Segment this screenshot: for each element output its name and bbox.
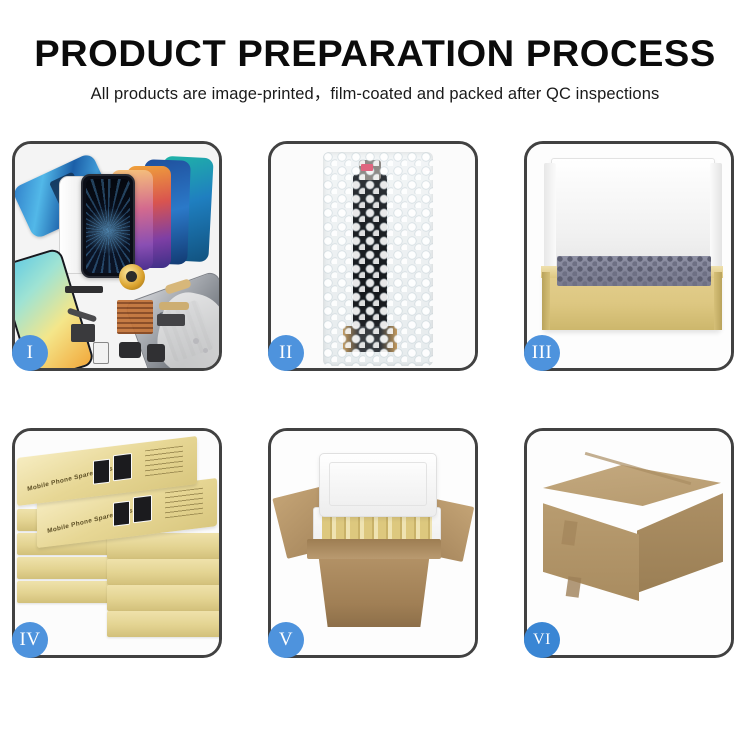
process-steps-grid: I II III (12, 141, 738, 711)
header: PRODUCT PREPARATION PROCESS All products… (0, 0, 750, 104)
spare-parts-group (73, 272, 219, 368)
flex-cable-part-b (71, 324, 95, 342)
product-preparation-page: PRODUCT PREPARATION PROCESS All products… (0, 0, 750, 750)
tray-side-left (542, 272, 550, 330)
step-image-i (15, 144, 219, 368)
screw-part-1 (193, 338, 199, 344)
carton-front-face (543, 497, 639, 601)
carton-side-face (637, 489, 723, 593)
flex-cable-part-d (159, 302, 189, 310)
stacked-box-edge-4 (17, 581, 113, 603)
carton-flap-front (307, 539, 441, 559)
step-image-vi (527, 431, 731, 655)
phone-front-black (81, 174, 135, 278)
step-badge-iii: III (524, 335, 560, 371)
gold-box-stack: Mobile Phone Spare Parts Mobile Phone Sp… (15, 445, 219, 645)
step-panel-v: V (268, 428, 478, 658)
styrofoam-lid (319, 453, 437, 517)
chip-part (93, 342, 109, 364)
box-screen-image-2 (113, 453, 132, 481)
camera-module-part (119, 342, 141, 358)
box-spec-lines-1 (145, 446, 183, 477)
step-panel-vi: VI (524, 428, 734, 658)
stacked-box-front-3 (107, 585, 219, 611)
tray-side-right (714, 272, 722, 330)
flex-cable-part-e (157, 314, 185, 326)
step-badge-i: I (12, 335, 48, 371)
step-image-ii (271, 144, 475, 368)
carton-body (313, 551, 435, 627)
pink-label-tag (361, 164, 373, 171)
stacked-box-front-4 (107, 611, 219, 637)
step-image-iii (527, 144, 731, 368)
step-badge-ii: II (268, 335, 304, 371)
box-screen-image-1 (93, 459, 110, 485)
step-panel-iii: III (524, 141, 734, 371)
step-image-v (271, 431, 475, 655)
box-spec-lines-2 (165, 488, 203, 519)
flex-cable-part-c (164, 278, 192, 295)
step-panel-ii: II (268, 141, 478, 371)
step-badge-v: V (268, 622, 304, 658)
step-badge-vi: VI (524, 622, 560, 658)
copper-grid-part (117, 300, 153, 334)
stacked-box-front-2 (107, 559, 219, 585)
screw-part-2 (203, 348, 208, 353)
step-badge-iv: IV (12, 622, 48, 658)
page-subtitle: All products are image-printed，film-coat… (0, 75, 750, 104)
screen-graphic (86, 179, 130, 273)
bubble-texture (323, 152, 433, 366)
step-panel-iv: Mobile Phone Spare Parts Mobile Phone Sp… (12, 428, 222, 658)
carton-tape-tab-bottom (566, 576, 582, 598)
bubble-wrap-package (323, 152, 433, 366)
camera-ring-part (119, 264, 145, 290)
step-image-iv: Mobile Phone Spare Parts Mobile Phone Sp… (15, 431, 219, 655)
antenna-bar-part (65, 286, 103, 293)
step-panel-i: I (12, 141, 222, 371)
gold-box-tray (543, 272, 721, 330)
box-screen-image-4 (133, 495, 152, 523)
page-title: PRODUCT PREPARATION PROCESS (0, 0, 750, 75)
stacked-box-edge-3 (17, 557, 113, 579)
box-screen-image-3 (113, 501, 130, 527)
speaker-part (147, 344, 165, 362)
grey-foam-insert (557, 256, 711, 286)
